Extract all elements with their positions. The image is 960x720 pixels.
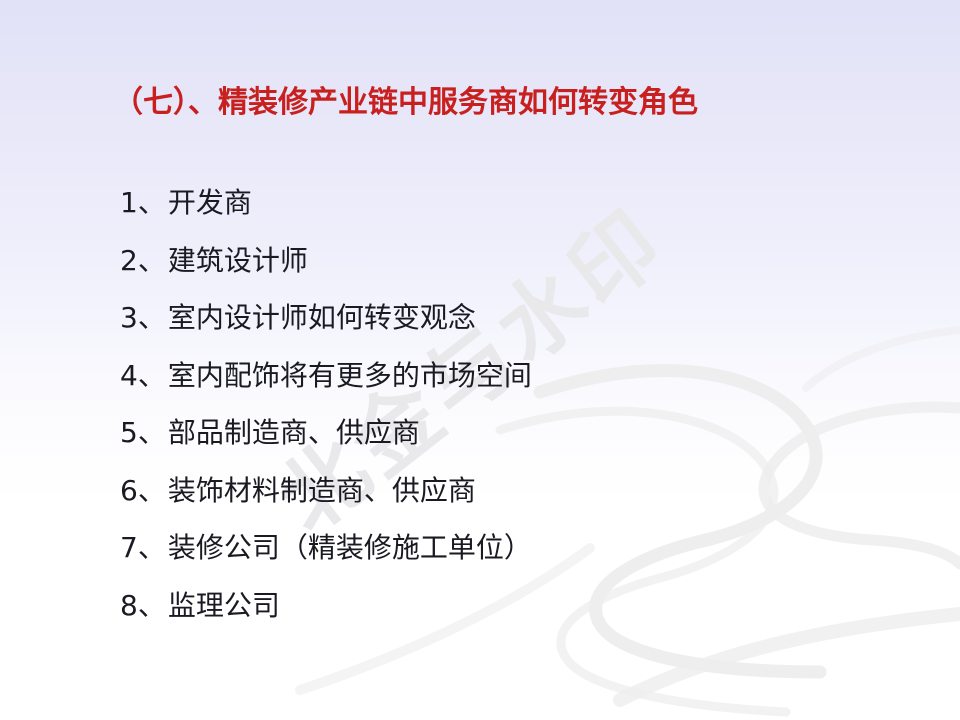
list-item-separator: 、 <box>138 301 168 335</box>
list-item-separator: 、 <box>138 416 168 450</box>
slide-canvas: 北金与水印 （七）、精装修产业链中服务商如何转变角色 1、开发商 2、建筑设计师… <box>0 0 960 720</box>
list-item-label: 室内设计师如何转变观念 <box>168 301 476 335</box>
list-item-label: 部品制造商、供应商 <box>168 416 420 450</box>
list-item: 3、室内设计师如何转变观念 <box>120 301 880 359</box>
list-item-number: 6 <box>120 474 138 508</box>
list-item-label: 装饰材料制造商、供应商 <box>168 474 476 508</box>
list-item-number: 3 <box>120 301 138 335</box>
list-item-number: 4 <box>120 359 138 393</box>
list-item: 7、装修公司（精装修施工单位） <box>120 531 880 589</box>
list-item-number: 5 <box>120 416 138 450</box>
list-item: 6、装饰材料制造商、供应商 <box>120 474 880 532</box>
list-item-label: 建筑设计师 <box>168 244 308 278</box>
list-item-number: 2 <box>120 244 138 278</box>
list-item: 5、部品制造商、供应商 <box>120 416 880 474</box>
list-item-number: 1 <box>120 186 138 220</box>
list-item-separator: 、 <box>138 186 168 220</box>
list-item: 4、室内配饰将有更多的市场空间 <box>120 359 880 417</box>
list-item-number: 7 <box>120 531 138 565</box>
bullet-list: 1、开发商 2、建筑设计师 3、室内设计师如何转变观念 4、室内配饰将有更多的市… <box>120 186 880 646</box>
page-title: （七）、精装修产业链中服务商如何转变角色 <box>113 84 698 122</box>
list-item-label: 装修公司（精装修施工单位） <box>168 531 532 565</box>
list-item: 1、开发商 <box>120 186 880 244</box>
list-item-separator: 、 <box>138 359 168 393</box>
list-item-separator: 、 <box>138 531 168 565</box>
list-item-separator: 、 <box>138 474 168 508</box>
list-item-number: 8 <box>120 589 138 623</box>
list-item-label: 监理公司 <box>168 589 280 623</box>
list-item-label: 室内配饰将有更多的市场空间 <box>168 359 532 393</box>
list-item: 8、监理公司 <box>120 589 880 647</box>
list-item: 2、建筑设计师 <box>120 244 880 302</box>
list-item-separator: 、 <box>138 589 168 623</box>
list-item-separator: 、 <box>138 244 168 278</box>
list-item-label: 开发商 <box>168 186 252 220</box>
